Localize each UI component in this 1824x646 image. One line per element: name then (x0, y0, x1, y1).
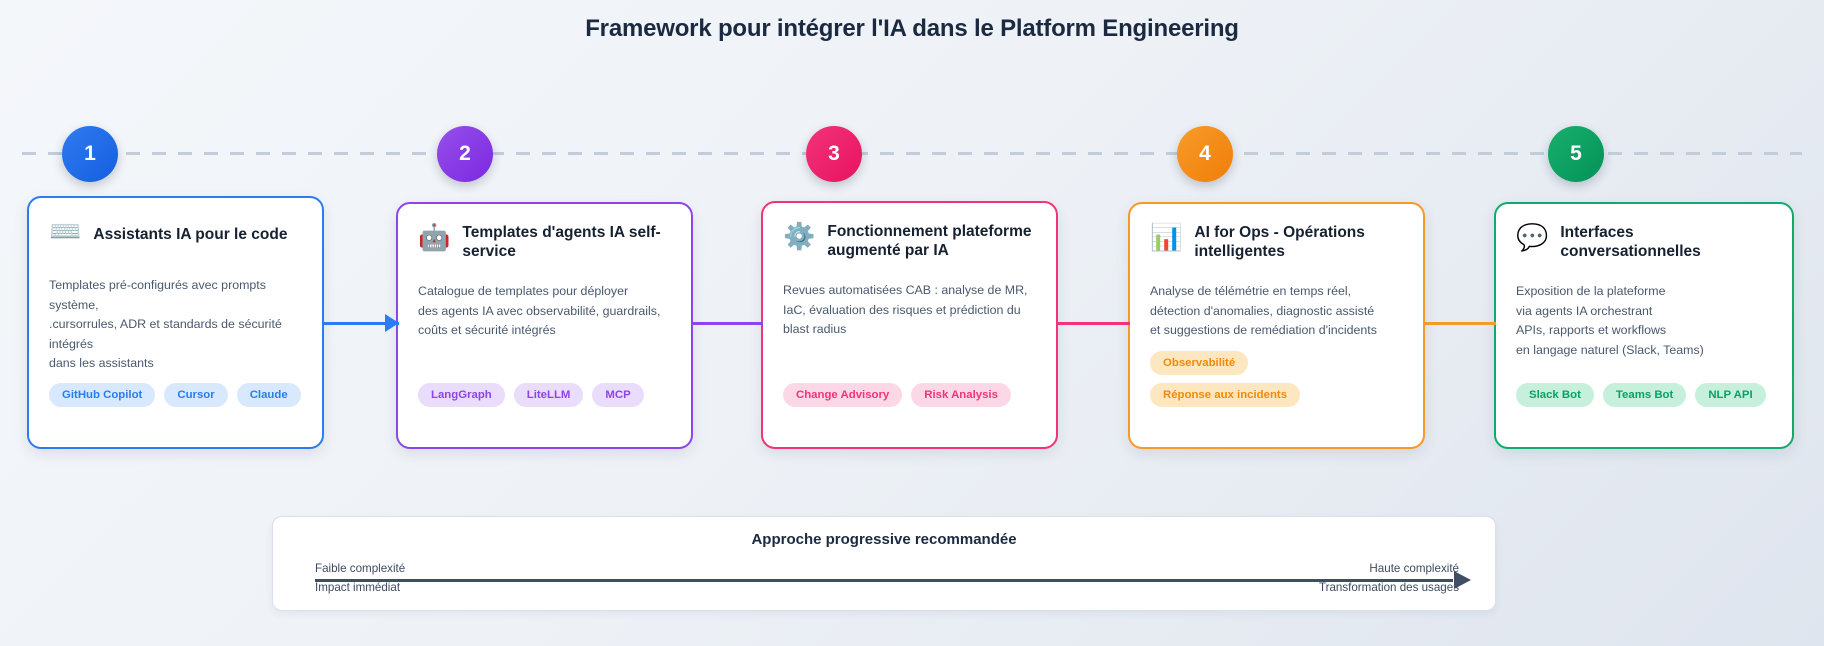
step-number-5: 5 (1570, 142, 1582, 166)
approach-title: Approche progressive recommandée (273, 517, 1495, 548)
step-number-1: 1 (84, 142, 96, 166)
step-circle-2[interactable]: 2 (437, 126, 493, 182)
approach-left-secondary: Impact immédiat (315, 580, 575, 595)
card-title: Fonctionnement plateforme augmenté par I… (827, 221, 1036, 261)
card-description: Templates pré-configurés avec prompts sy… (49, 276, 302, 374)
card-title: Assistants IA pour le code (93, 216, 287, 245)
page-title: Framework pour intégrer l'IA dans le Pla… (0, 15, 1824, 43)
tag-item[interactable]: Cursor (164, 383, 227, 407)
tag-item[interactable]: MCP (592, 383, 643, 407)
speech-balloon-icon: 💬 (1516, 222, 1548, 250)
card-description: Analyse de télémétrie en temps réel, dét… (1150, 282, 1403, 341)
keyboard-icon: ⌨️ (49, 216, 81, 244)
step-number-3: 3 (828, 142, 840, 166)
card-header: 💬 Interfaces conversationnelles (1516, 222, 1772, 270)
card-title: Interfaces conversationnelles (1560, 222, 1772, 262)
step-circle-4[interactable]: 4 (1177, 126, 1233, 182)
approach-panel: Approche progressive recommandée Faible … (272, 516, 1496, 611)
card-header: ⚙️ Fonctionnement plateforme augmenté pa… (783, 221, 1036, 269)
step-circle-3[interactable]: 3 (806, 126, 862, 182)
tag-item[interactable]: NLP API (1695, 383, 1765, 407)
tag-item[interactable]: GitHub Copilot (49, 383, 155, 407)
robot-icon: 🤖 (418, 222, 450, 250)
tag-item[interactable]: Risk Analysis (911, 383, 1011, 407)
card-fonctionnement-plateforme[interactable]: ⚙️ Fonctionnement plateforme augmenté pa… (761, 201, 1058, 449)
card-interfaces-conversationnelles[interactable]: 💬 Interfaces conversationnelles Expositi… (1494, 202, 1794, 449)
card-title: Templates d'agents IA self-service (462, 222, 671, 262)
card-title: AI for Ops - Opérations intelligentes (1194, 222, 1403, 262)
tag-item[interactable]: Réponse aux incidents (1150, 383, 1300, 407)
tag-item[interactable]: Claude (237, 383, 301, 407)
card-tag-list: GitHub Copilot Cursor Claude (49, 383, 302, 407)
approach-left-primary: Faible complexité (315, 562, 405, 575)
card-tag-list: Slack Bot Teams Bot NLP API (1516, 383, 1772, 407)
approach-arrowhead-icon (1454, 571, 1471, 589)
card-description: Revues automatisées CAB : analyse de MR,… (783, 281, 1036, 340)
step-number-4: 4 (1199, 142, 1211, 166)
tag-item[interactable]: Change Advisory (783, 383, 902, 407)
card-header: ⌨️ Assistants IA pour le code (49, 216, 302, 264)
step-number-2: 2 (459, 142, 471, 166)
connector-arrowhead-icon (385, 314, 399, 332)
card-tag-list: LangGraph LiteLLM MCP (418, 383, 671, 407)
approach-axis-line (315, 579, 1453, 582)
timeline-rail (22, 152, 1802, 155)
connector-2-to-3 (692, 322, 763, 325)
card-tag-list: Observabilité Réponse aux incidents (1150, 351, 1403, 407)
approach-right-secondary: Transformation des usages (1199, 580, 1459, 595)
connector-3-to-4 (1057, 322, 1130, 325)
approach-right-primary: Haute complexité (1369, 562, 1459, 575)
step-circle-5[interactable]: 5 (1548, 126, 1604, 182)
tag-item[interactable]: Teams Bot (1603, 383, 1686, 407)
tag-item[interactable]: LangGraph (418, 383, 505, 407)
card-tag-list: Change Advisory Risk Analysis (783, 383, 1036, 407)
tag-item[interactable]: Observabilité (1150, 351, 1248, 375)
tag-item[interactable]: LiteLLM (514, 383, 584, 407)
tag-item[interactable]: Slack Bot (1516, 383, 1594, 407)
card-description: Exposition de la plateforme via agents I… (1516, 282, 1772, 360)
card-ai-for-ops[interactable]: 📊 AI for Ops - Opérations intelligentes … (1128, 202, 1425, 449)
card-description: Catalogue de templates pour déployer des… (418, 282, 671, 341)
card-header: 🤖 Templates d'agents IA self-service (418, 222, 671, 270)
connector-4-to-5 (1424, 322, 1496, 325)
card-templates-agents-ia[interactable]: 🤖 Templates d'agents IA self-service Cat… (396, 202, 693, 449)
bar-chart-icon: 📊 (1150, 222, 1182, 250)
gear-icon: ⚙️ (783, 221, 815, 249)
step-circle-1[interactable]: 1 (62, 126, 118, 182)
card-header: 📊 AI for Ops - Opérations intelligentes (1150, 222, 1403, 270)
card-assistants-ia[interactable]: ⌨️ Assistants IA pour le code Templates … (27, 196, 324, 449)
